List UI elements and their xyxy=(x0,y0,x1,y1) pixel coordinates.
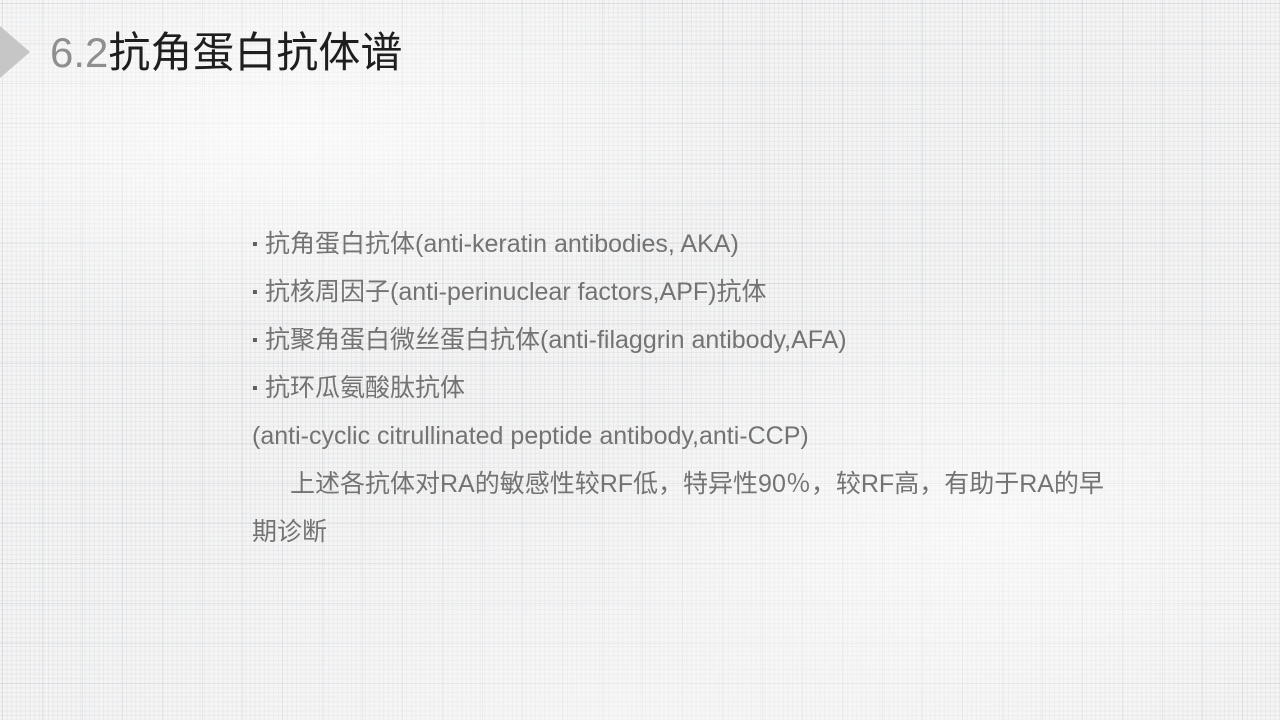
list-item-label: 抗核周因子(anti-perinuclear factors,APF)抗体 xyxy=(265,278,767,306)
square-bullet-icon: ▪ xyxy=(252,317,265,365)
right-triangle-icon xyxy=(0,26,30,78)
paragraph-line: 上述各抗体对RA的敏感性较RF低，特异性90％，较RF高，有助于RA的早 xyxy=(252,460,1212,508)
list-item-label: 抗角蛋白抗体(anti-keratin antibodies, AKA) xyxy=(265,230,739,258)
content-text-block: ▪抗角蛋白抗体(anti-keratin antibodies, AKA) ▪抗… xyxy=(252,220,1212,556)
title-heading: 抗角蛋白抗体谱 xyxy=(108,29,402,76)
list-item: ▪抗核周因子(anti-perinuclear factors,APF)抗体 xyxy=(252,268,1212,316)
square-bullet-icon: ▪ xyxy=(252,221,265,269)
square-bullet-icon: ▪ xyxy=(252,269,265,317)
paragraph-line: 期诊断 xyxy=(252,508,1212,556)
list-item: ▪抗角蛋白抗体(anti-keratin antibodies, AKA) xyxy=(252,220,1212,268)
list-item: ▪抗聚角蛋白微丝蛋白抗体(anti-filaggrin antibody,AFA… xyxy=(252,316,1212,364)
title-number: 6.2 xyxy=(50,29,108,76)
list-item: ▪抗环瓜氨酸肽抗体 xyxy=(252,364,1212,412)
list-item-label: 抗环瓜氨酸肽抗体 xyxy=(265,374,465,402)
square-bullet-icon: ▪ xyxy=(252,365,265,413)
list-item-continuation: (anti-cyclic citrullinated peptide antib… xyxy=(252,412,1212,460)
list-item-label: (anti-cyclic citrullinated peptide antib… xyxy=(252,422,809,450)
slide-canvas: 6.2抗角蛋白抗体谱 ▪抗角蛋白抗体(anti-keratin antibodi… xyxy=(0,0,1280,720)
list-item-label: 抗聚角蛋白微丝蛋白抗体(anti-filaggrin antibody,AFA) xyxy=(265,326,847,354)
page-title: 6.2抗角蛋白抗体谱 xyxy=(50,24,402,82)
